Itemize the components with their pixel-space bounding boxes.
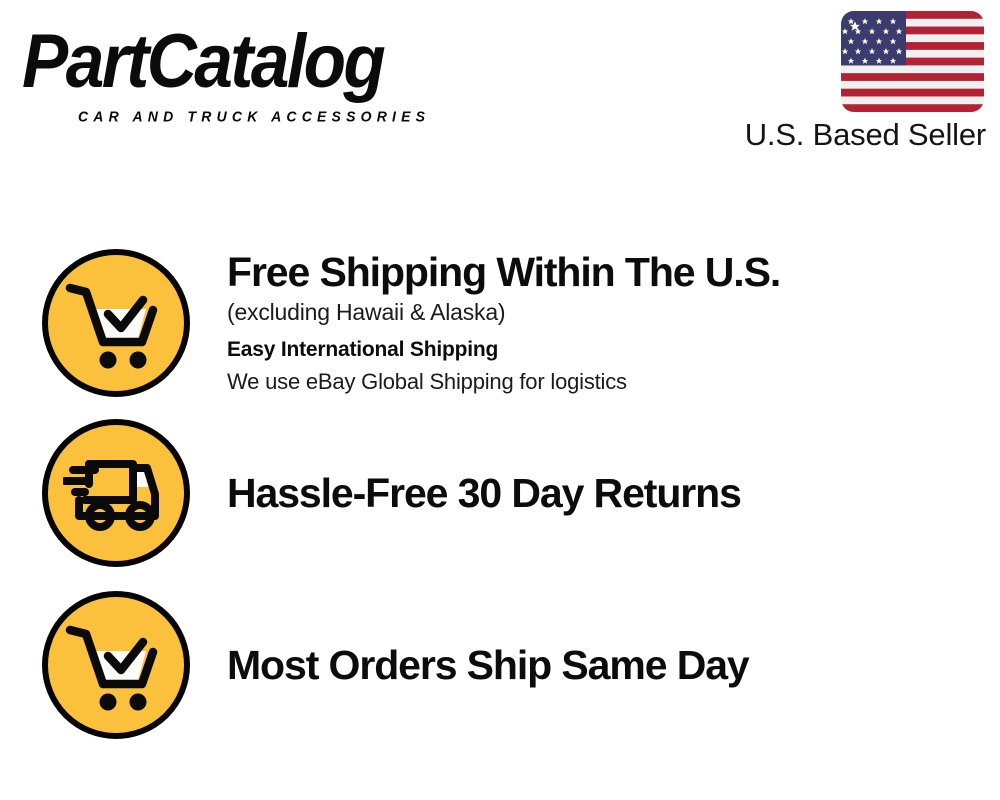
feature-text-block: Free Shipping Within The U.S. (excluding… xyxy=(227,248,780,397)
feature-note: We use eBay Global Shipping for logistic… xyxy=(227,367,780,397)
feature-title: Hassle-Free 30 Day Returns xyxy=(227,470,741,517)
delivery-truck-icon xyxy=(42,419,190,567)
us-flag-icon xyxy=(841,11,984,112)
shopping-cart-check-icon xyxy=(42,249,190,397)
feature-subtitle: (excluding Hawaii & Alaska) xyxy=(227,296,780,328)
feature-title: Most Orders Ship Same Day xyxy=(227,642,749,689)
page-header: PartCatalog CAR AND TRUCK ACCESSORIES xyxy=(0,0,1000,170)
brand-tagline: CAR AND TRUCK ACCESSORIES xyxy=(78,108,430,125)
feature-text-block: Most Orders Ship Same Day xyxy=(227,642,749,689)
feature-text-block: Hassle-Free 30 Day Returns xyxy=(227,470,741,517)
feature-row: Free Shipping Within The U.S. (excluding… xyxy=(42,248,780,397)
shopping-cart-check-icon xyxy=(42,591,190,739)
feature-title: Free Shipping Within The U.S. xyxy=(227,248,780,296)
brand-wordmark: PartCatalog xyxy=(22,22,501,100)
feature-row: Most Orders Ship Same Day xyxy=(42,591,749,739)
us-based-seller-label: U.S. Based Seller xyxy=(745,117,986,153)
brand-logo[interactable]: PartCatalog CAR AND TRUCK ACCESSORIES xyxy=(22,22,492,117)
feature-bold-line: Easy International Shipping xyxy=(227,333,780,367)
feature-row: Hassle-Free 30 Day Returns xyxy=(42,419,741,567)
